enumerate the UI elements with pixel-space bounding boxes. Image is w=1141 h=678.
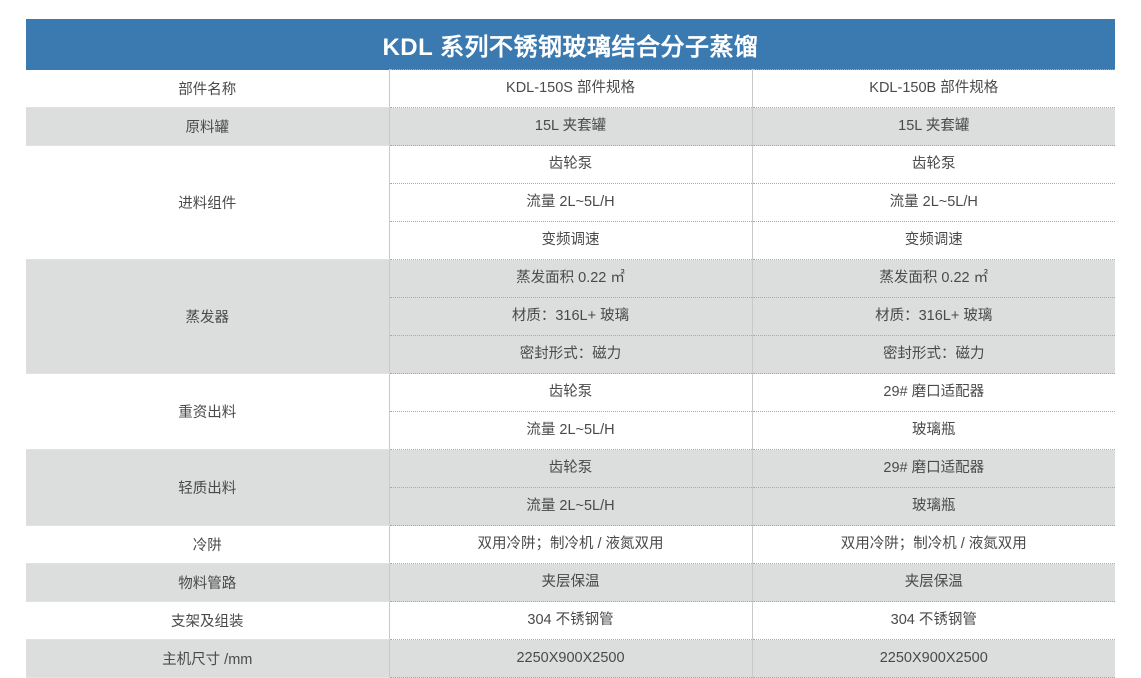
spec-cell-model-a: 齿轮泵 (389, 450, 752, 488)
spec-cell-model-b: 流量 2L~5L/H (752, 184, 1115, 222)
spec-cell-model-b: 齿轮泵 (752, 146, 1115, 184)
spec-cell-model-a: 304 不锈钢管 (389, 602, 752, 640)
spec-table: KDL 系列不锈钢玻璃结合分子蒸馏 部件名称KDL-150S 部件规格KDL-1… (26, 19, 1115, 678)
spec-cell-model-a: 流量 2L~5L/H (389, 412, 752, 450)
spec-cell-model-b: 玻璃瓶 (752, 488, 1115, 526)
table-row: 原料罐15L 夹套罐15L 夹套罐 (26, 108, 1115, 146)
spec-cell-model-a: 2250X900X2500 (389, 640, 752, 678)
row-label-3: 进料组件 (26, 146, 389, 260)
spec-table-container: KDL 系列不锈钢玻璃结合分子蒸馏 部件名称KDL-150S 部件规格KDL-1… (26, 19, 1115, 678)
spec-cell-model-a: 变频调速 (389, 222, 752, 260)
spec-cell-model-a: 密封形式：磁力 (389, 336, 752, 374)
page-root: KDL 系列不锈钢玻璃结合分子蒸馏 部件名称KDL-150S 部件规格KDL-1… (0, 0, 1141, 644)
row-label-9: 支架及组装 (26, 602, 389, 640)
table-row: 轻质出料齿轮泵29# 磨口适配器 (26, 450, 1115, 488)
spec-cell-model-a: 双用冷阱；制冷机 / 液氮双用 (389, 526, 752, 564)
table-row: 重资出料齿轮泵29# 磨口适配器 (26, 374, 1115, 412)
spec-cell-model-b: 变频调速 (752, 222, 1115, 260)
spec-cell-model-b: 29# 磨口适配器 (752, 374, 1115, 412)
spec-cell-model-b: 夹层保温 (752, 564, 1115, 602)
spec-cell-model-a: 齿轮泵 (389, 374, 752, 412)
spec-cell-model-a: 蒸发面积 0.22 ㎡ (389, 260, 752, 298)
spec-cell-model-b: 密封形式：磁力 (752, 336, 1115, 374)
row-label-8: 物料管路 (26, 564, 389, 602)
row-label-10: 主机尺寸 /mm (26, 640, 389, 678)
spec-table-body: KDL 系列不锈钢玻璃结合分子蒸馏 部件名称KDL-150S 部件规格KDL-1… (26, 19, 1115, 678)
spec-cell-model-b: 304 不锈钢管 (752, 602, 1115, 640)
row-label-5: 重资出料 (26, 374, 389, 450)
spec-cell-model-a: KDL-150S 部件规格 (389, 70, 752, 108)
spec-cell-model-b: 2250X900X2500 (752, 640, 1115, 678)
row-label-7: 冷阱 (26, 526, 389, 564)
title-row: KDL 系列不锈钢玻璃结合分子蒸馏 (26, 19, 1115, 70)
table-row: 支架及组装304 不锈钢管304 不锈钢管 (26, 602, 1115, 640)
table-row: 进料组件齿轮泵齿轮泵 (26, 146, 1115, 184)
spec-cell-model-a: 夹层保温 (389, 564, 752, 602)
spec-cell-model-a: 材质：316L+ 玻璃 (389, 298, 752, 336)
spec-cell-model-a: 15L 夹套罐 (389, 108, 752, 146)
spec-cell-model-b: 15L 夹套罐 (752, 108, 1115, 146)
spec-cell-model-b: KDL-150B 部件规格 (752, 70, 1115, 108)
spec-cell-model-a: 流量 2L~5L/H (389, 184, 752, 222)
spec-cell-model-b: 玻璃瓶 (752, 412, 1115, 450)
spec-cell-model-b: 双用冷阱；制冷机 / 液氮双用 (752, 526, 1115, 564)
row-label-4: 蒸发器 (26, 260, 389, 374)
spec-cell-model-a: 流量 2L~5L/H (389, 488, 752, 526)
spec-cell-model-b: 29# 磨口适配器 (752, 450, 1115, 488)
table-row: 冷阱双用冷阱；制冷机 / 液氮双用双用冷阱；制冷机 / 液氮双用 (26, 526, 1115, 564)
spec-cell-model-b: 材质：316L+ 玻璃 (752, 298, 1115, 336)
row-label-1: 部件名称 (26, 70, 389, 108)
row-label-2: 原料罐 (26, 108, 389, 146)
row-label-6: 轻质出料 (26, 450, 389, 526)
spec-cell-model-b: 蒸发面积 0.22 ㎡ (752, 260, 1115, 298)
page-title: KDL 系列不锈钢玻璃结合分子蒸馏 (26, 19, 1115, 70)
spec-cell-model-a: 齿轮泵 (389, 146, 752, 184)
table-row: 蒸发器蒸发面积 0.22 ㎡蒸发面积 0.22 ㎡ (26, 260, 1115, 298)
table-row: 主机尺寸 /mm2250X900X25002250X900X2500 (26, 640, 1115, 678)
table-row: 部件名称KDL-150S 部件规格KDL-150B 部件规格 (26, 70, 1115, 108)
table-row: 物料管路夹层保温夹层保温 (26, 564, 1115, 602)
